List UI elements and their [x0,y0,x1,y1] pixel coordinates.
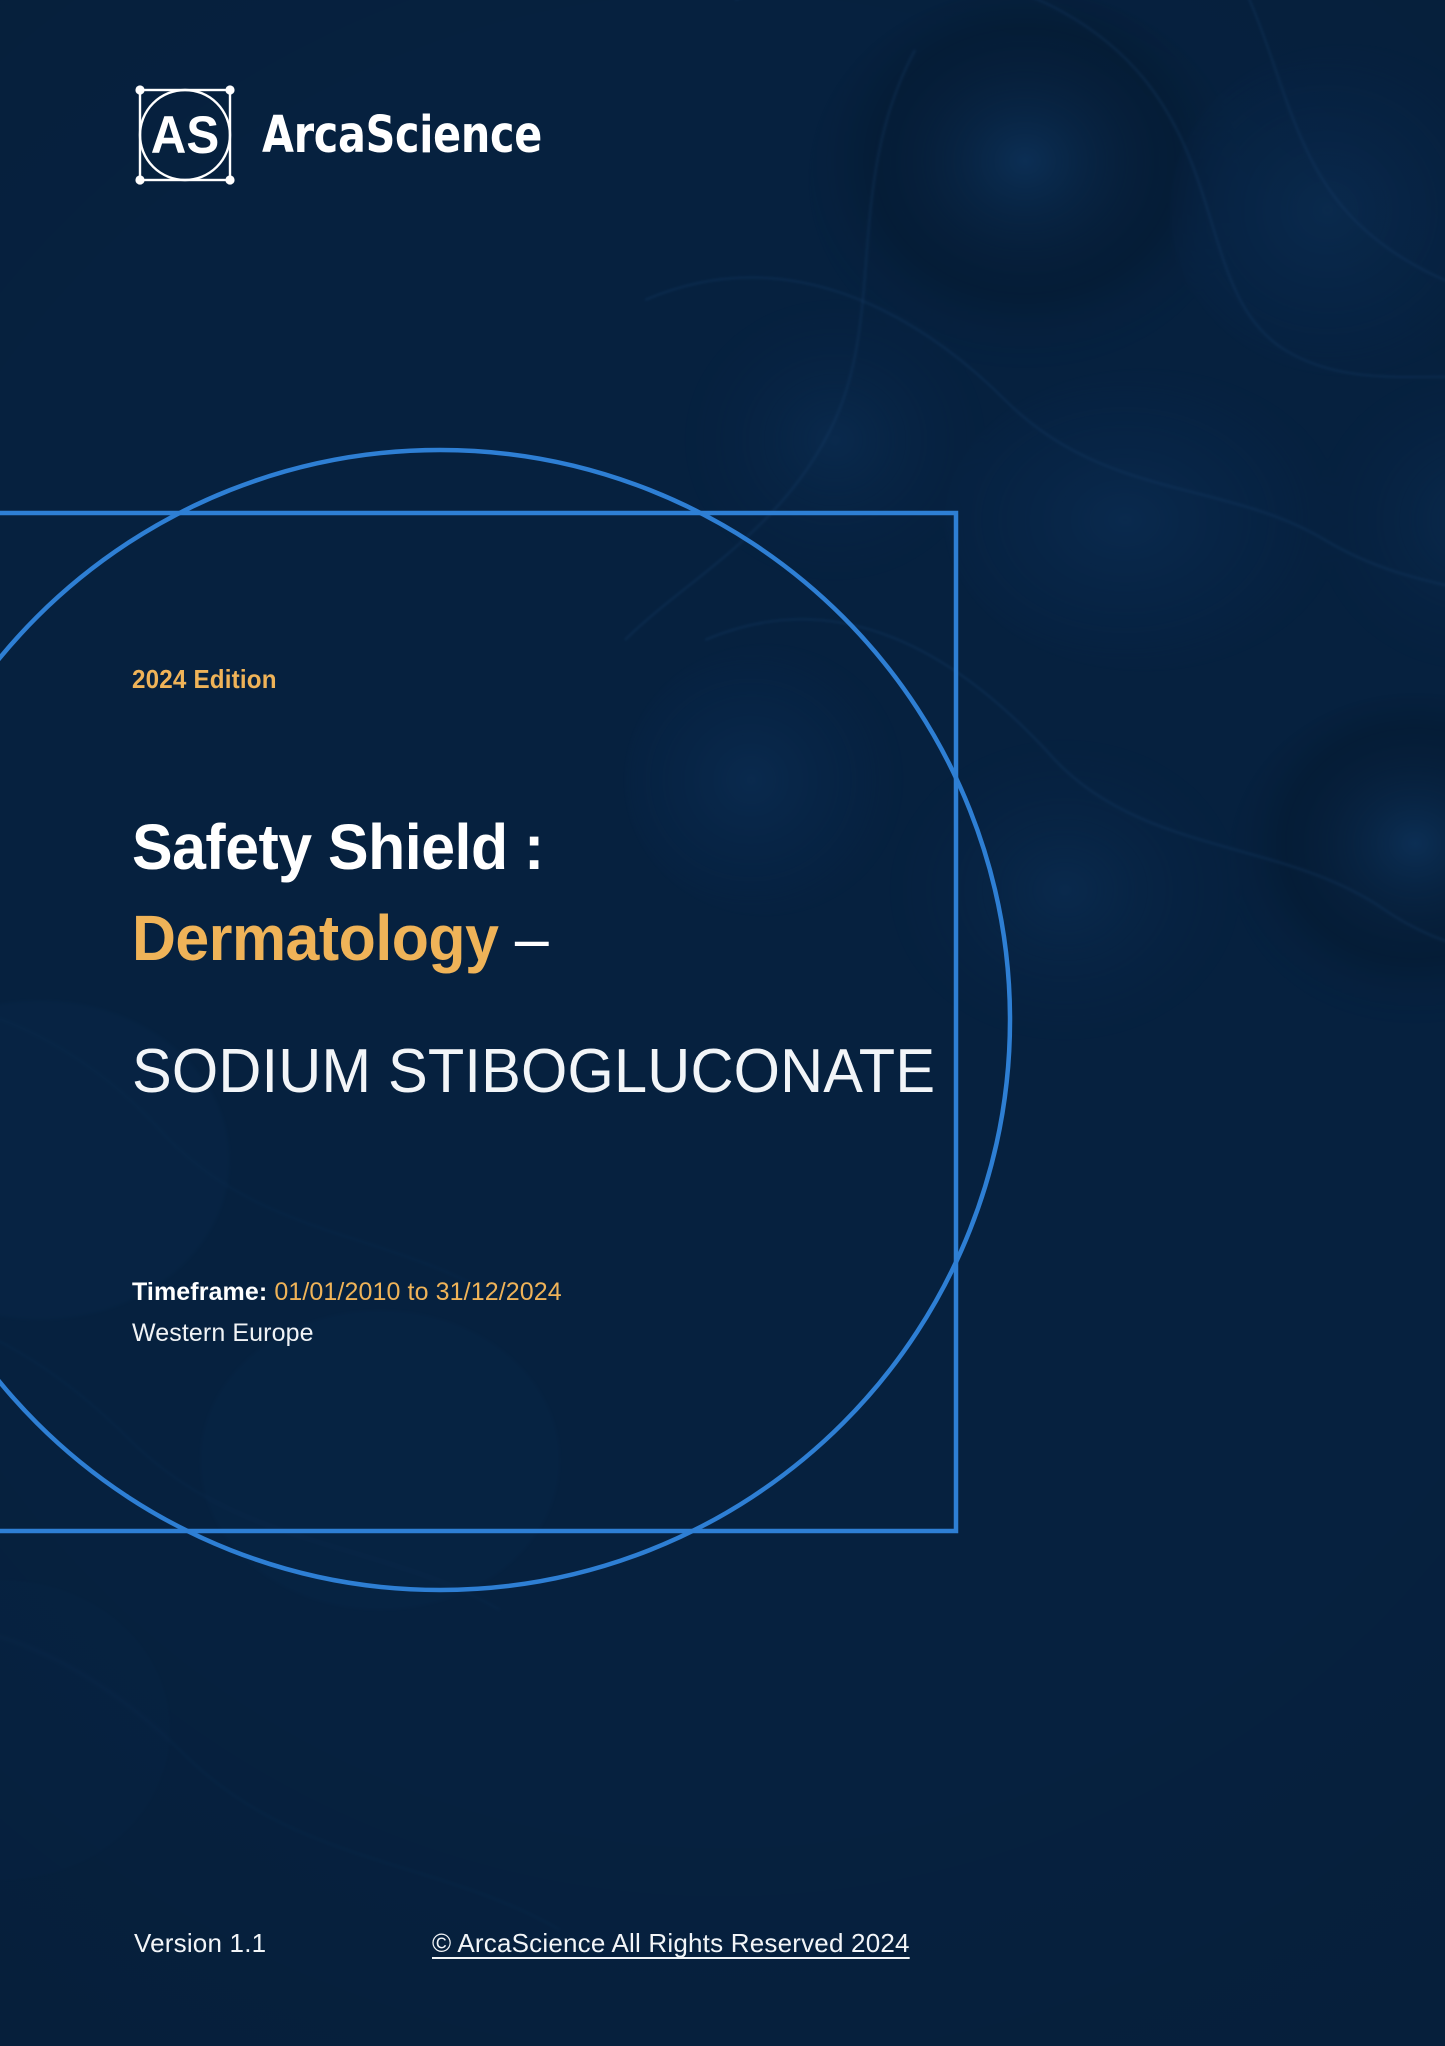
title-category: Dermatology [132,902,498,974]
timeframe-value: 01/01/2010 to 31/12/2024 [274,1278,561,1306]
timeframe-separator: : [259,1278,274,1306]
version-label: Version 1.1 [134,1928,266,1959]
region-label: Western Europe [132,1313,992,1354]
cover-content: 2024 Edition Safety Shield : Dermatology… [132,664,992,1353]
report-title: Safety Shield : Dermatology – [132,813,949,973]
svg-text:AS: AS [151,105,219,164]
cover-page: AS ArcaScience 2024 Edition Safety Shiel… [0,0,1445,2046]
drug-name: SODIUM STIBOGLUCONATE [132,1039,958,1104]
arcascience-logo-icon: AS [126,76,244,194]
title-dash: – [515,902,548,974]
timeframe-line: Timeframe: 01/01/2010 to 31/12/2024 [132,1272,992,1313]
copyright-link[interactable]: © ArcaScience All Rights Reserved 2024 [432,1928,910,1959]
title-line-2: Dermatology – [132,904,949,973]
edition-label: 2024 Edition [132,664,932,695]
timeframe-label: Timeframe [132,1278,259,1306]
brand-name: ArcaScience [262,110,542,161]
brand-logo[interactable]: AS ArcaScience [126,76,573,194]
title-line-1: Safety Shield : [132,811,544,883]
cover-footer: Version 1.1 © ArcaScience All Rights Res… [0,1928,1445,1968]
report-meta: Timeframe: 01/01/2010 to 31/12/2024 West… [132,1272,992,1353]
